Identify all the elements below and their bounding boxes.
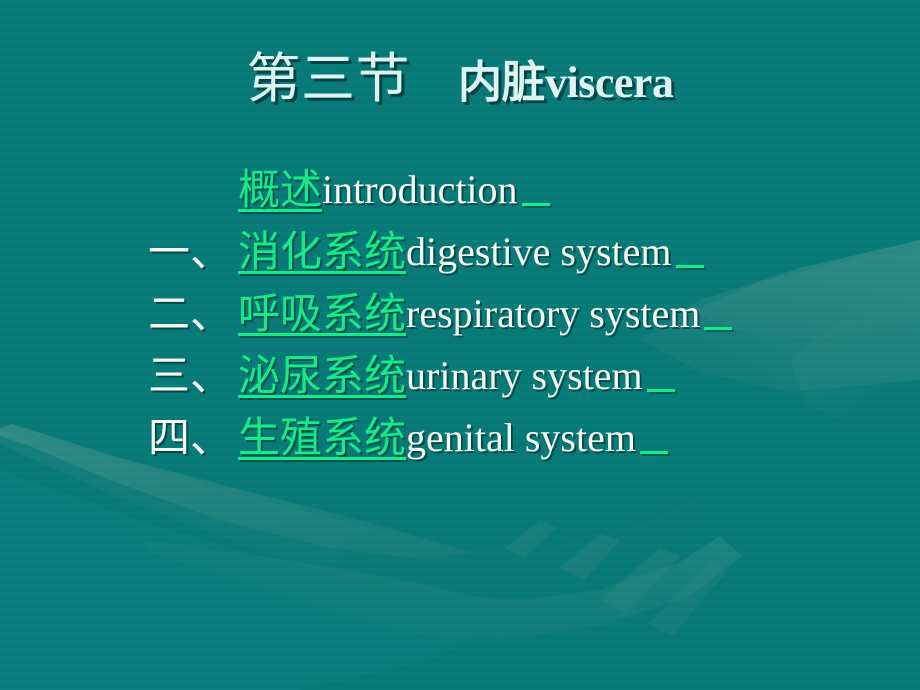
outline-term-chinese[interactable]: 概述: [238, 162, 322, 218]
outline-number: 二、: [148, 286, 238, 342]
list-item[interactable]: 概述introduction: [0, 162, 920, 224]
outline-number: 三、: [148, 348, 238, 404]
slide-canvas: 第三节内脏viscera 概述introduction 一、消化系统digest…: [0, 0, 920, 690]
watermark-shape-lower-haze: [0, 470, 500, 690]
page-title: 第三节内脏viscera: [0, 46, 920, 110]
watermark-shape-rib-1: [560, 534, 620, 580]
watermark-shape-rib-2: [600, 548, 680, 614]
outline-term-chinese[interactable]: 呼吸系统: [238, 286, 406, 342]
outline-number: 四、: [148, 410, 238, 466]
list-item[interactable]: 三、泌尿系统urinary system: [0, 348, 920, 410]
outline-term-english: introduction: [322, 162, 518, 218]
list-item[interactable]: 四、生殖系统genital system: [0, 410, 920, 472]
outline-trailing-underline[interactable]: [636, 410, 670, 466]
outline-term-chinese[interactable]: 生殖系统: [238, 410, 406, 466]
list-item[interactable]: 一、消化系统digestive system: [0, 224, 920, 286]
outline-term-chinese[interactable]: 消化系统: [238, 224, 406, 280]
outline-list: 概述introduction 一、消化系统digestive system 二、…: [0, 162, 920, 472]
outline-term-english: respiratory system: [406, 286, 700, 342]
outline-term-english: urinary system: [406, 348, 643, 404]
watermark-shape-rib-4: [505, 520, 556, 558]
title-english: 内脏viscera: [458, 58, 673, 107]
outline-term-english: genital system: [406, 410, 636, 466]
list-item[interactable]: 二、呼吸系统respiratory system: [0, 286, 920, 348]
title-text: 第三节内脏viscera: [247, 46, 674, 110]
outline-trailing-underline[interactable]: [518, 162, 552, 218]
outline-trailing-underline[interactable]: [643, 348, 677, 404]
title-chinese: 第三节: [247, 47, 411, 110]
outline-trailing-underline[interactable]: [672, 224, 706, 280]
outline-term-chinese[interactable]: 泌尿系统: [238, 348, 406, 404]
outline-trailing-underline[interactable]: [700, 286, 734, 342]
outline-number: 一、: [148, 224, 238, 280]
outline-term-english: digestive system: [406, 224, 672, 280]
watermark-shape-center-band: [140, 536, 742, 640]
watermark-shape-rib-3: [648, 560, 728, 636]
